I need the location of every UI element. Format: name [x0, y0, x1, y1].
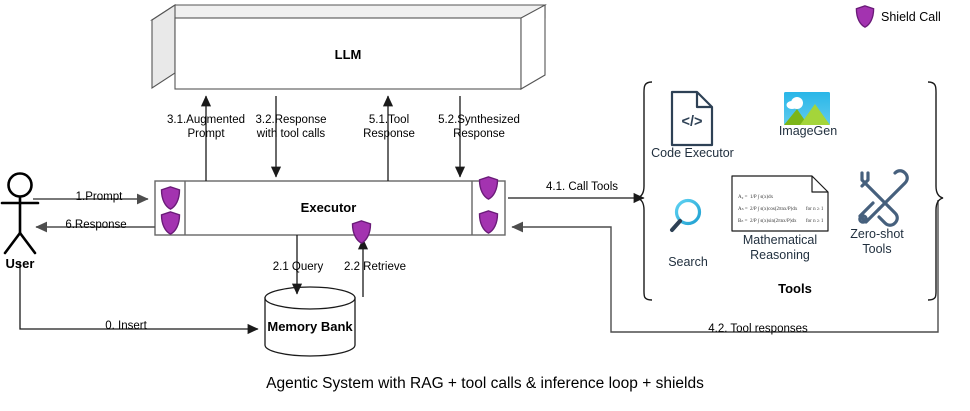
shield-icon-executor-in-2[interactable]: [162, 212, 180, 234]
edge-label-21: 2.1 Query: [258, 261, 338, 275]
shield-icon-executor-in-1[interactable]: [162, 187, 180, 209]
edge-label-22: 2.2 Retrieve: [330, 261, 420, 275]
edge-label-1: 1.Prompt: [53, 191, 145, 205]
edge-label-41: 4.1. Call Tools: [527, 181, 637, 195]
shield-icon-legend: [856, 6, 873, 27]
edge-label-52: 5.2.Synthesized Response: [420, 114, 538, 141]
tool-label-zero-shot-tools: Zero-shot Tools: [840, 227, 914, 257]
shield-icon-executor-out-1[interactable]: [480, 177, 498, 199]
llm-label: LLM: [175, 47, 521, 62]
legend-label: Shield Call: [881, 10, 967, 25]
memory-bank-label: Memory Bank: [255, 319, 365, 334]
shield-icon-executor-memory[interactable]: [353, 221, 371, 243]
edge-label-42: 4.2. Tool responses: [668, 323, 848, 337]
tool-label-code-executor: Code Executor: [645, 146, 740, 161]
diagram-caption: Agentic System with RAG + tool calls & i…: [0, 375, 970, 393]
diagram-canvas: </> A₀ = 1/P ∫ s(x)dx Aₙ = 2/P ∫ s(x)cos…: [0, 0, 970, 411]
tool-label-math-reasoning: Mathematical Reasoning: [725, 233, 835, 263]
tools-group-label: Tools: [740, 281, 850, 296]
edge-label-6: 6.Response: [47, 219, 145, 233]
user-label: User: [0, 256, 46, 271]
tool-label-imagegen: ImageGen: [765, 124, 851, 139]
edge-label-32: 3.2.Response with tool calls: [232, 114, 350, 141]
shield-icon-executor-out-2[interactable]: [480, 211, 498, 233]
executor-label: Executor: [185, 200, 472, 215]
edge-label-0: 0. Insert: [81, 320, 171, 334]
tool-label-search: Search: [655, 255, 721, 270]
